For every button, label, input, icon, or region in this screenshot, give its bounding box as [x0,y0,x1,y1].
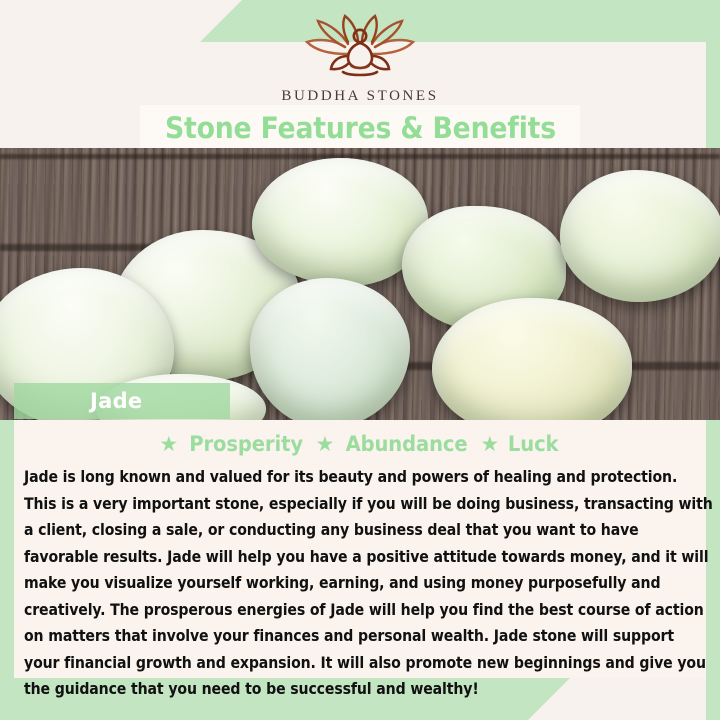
title-banner: Stone Features & Benefits [141,106,579,150]
benefits-row: ★ Prosperity ★ Abundance ★ Luck [14,420,706,456]
page-title: Stone Features & Benefits [165,111,556,145]
brand-logo: BUDDHA STONES [0,14,720,105]
product-info-card: BUDDHA STONES Stone Features & Benefits … [0,0,720,720]
star-icon: ★ [159,434,178,455]
jade-stone [432,298,632,420]
star-icon: ★ [480,434,499,455]
benefit-label: Luck [508,432,559,456]
stone-name: Jade [90,389,142,413]
stone-description: Jade is long known and valued for its be… [24,464,713,703]
jade-stone [560,170,720,302]
jade-stone [250,278,410,420]
lotus-meditation-icon [285,14,435,86]
benefit-item-abundance: ★ Abundance [315,432,472,456]
benefit-item-prosperity: ★ Prosperity [159,432,307,456]
star-icon: ★ [315,434,334,455]
benefit-label: Prosperity [189,432,303,456]
stone-name-bar: Jade [14,383,230,419]
stone-photo: Jade [0,148,720,420]
brand-wordmark: BUDDHA STONES [0,88,720,105]
benefit-item-luck: ★ Luck [480,432,560,456]
benefit-label: Abundance [346,432,468,456]
content-panel: ★ Prosperity ★ Abundance ★ Luck Jade is … [14,420,706,678]
